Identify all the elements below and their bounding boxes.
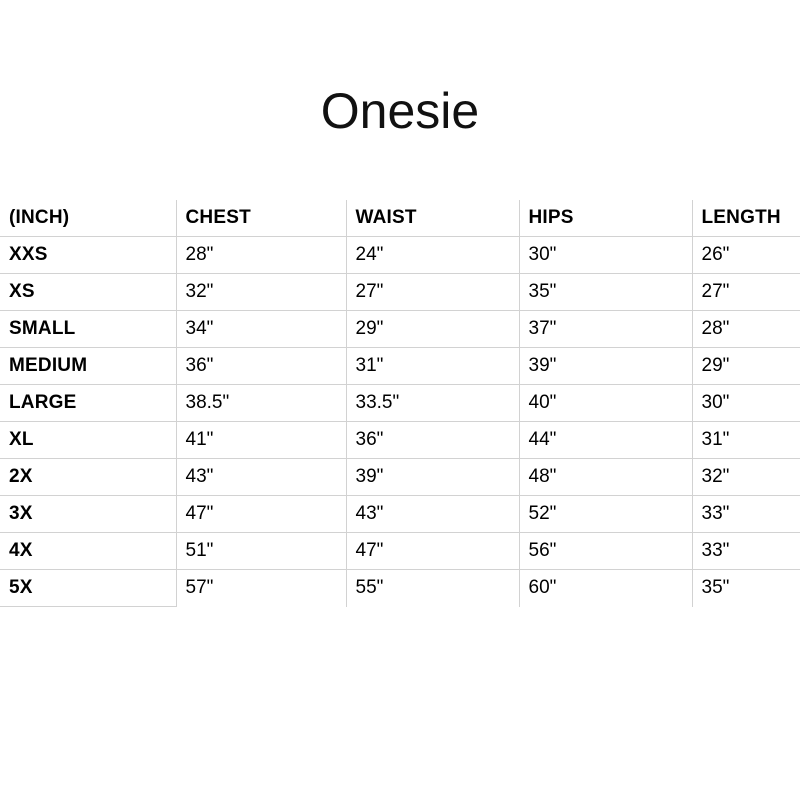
cell-waist: 29" [346,311,519,348]
table-row: SMALL 34" 29" 37" 28" [0,311,800,348]
cell-waist: 43" [346,496,519,533]
table-row: XS 32" 27" 35" 27" [0,274,800,311]
cell-waist: 31" [346,348,519,385]
cell-hips: 40" [519,385,692,422]
table-row: 4X 51" 47" 56" 33" [0,533,800,570]
cell-waist: 39" [346,459,519,496]
cell-hips: 39" [519,348,692,385]
table-row: MEDIUM 36" 31" 39" 29" [0,348,800,385]
row-label-size: XXS [0,237,176,274]
cell-length: 27" [692,274,800,311]
column-header-hips: HIPS [519,200,692,237]
cell-hips: 52" [519,496,692,533]
table-row: XXS 28" 24" 30" 26" [0,237,800,274]
cell-hips: 30" [519,237,692,274]
size-chart-table: (INCH) CHEST WAIST HIPS LENGTH XXS 28" 2… [0,200,800,607]
cell-waist: 55" [346,570,519,607]
table-header-row: (INCH) CHEST WAIST HIPS LENGTH [0,200,800,237]
cell-hips: 48" [519,459,692,496]
row-label-size: 2X [0,459,176,496]
table-body: XXS 28" 24" 30" 26" XS 32" 27" 35" 27" S… [0,237,800,607]
cell-chest: 36" [176,348,346,385]
cell-waist: 24" [346,237,519,274]
cell-hips: 60" [519,570,692,607]
cell-chest: 57" [176,570,346,607]
cell-length: 28" [692,311,800,348]
table-row: 5X 57" 55" 60" 35" [0,570,800,607]
cell-hips: 56" [519,533,692,570]
cell-chest: 28" [176,237,346,274]
cell-chest: 41" [176,422,346,459]
cell-chest: 43" [176,459,346,496]
row-label-size: MEDIUM [0,348,176,385]
row-label-size: LARGE [0,385,176,422]
size-chart-table-container: (INCH) CHEST WAIST HIPS LENGTH XXS 28" 2… [0,200,800,607]
cell-hips: 35" [519,274,692,311]
column-header-waist: WAIST [346,200,519,237]
column-header-unit: (INCH) [0,200,176,237]
cell-hips: 44" [519,422,692,459]
cell-chest: 47" [176,496,346,533]
table-row: 3X 47" 43" 52" 33" [0,496,800,533]
table-row: XL 41" 36" 44" 31" [0,422,800,459]
cell-length: 35" [692,570,800,607]
cell-waist: 27" [346,274,519,311]
table-row: LARGE 38.5" 33.5" 40" 30" [0,385,800,422]
cell-length: 31" [692,422,800,459]
cell-length: 33" [692,533,800,570]
cell-chest: 38.5" [176,385,346,422]
row-label-size: 4X [0,533,176,570]
cell-chest: 34" [176,311,346,348]
row-label-size: XS [0,274,176,311]
cell-waist: 36" [346,422,519,459]
cell-chest: 32" [176,274,346,311]
size-chart-page: Onesie (INCH) CHEST WAIST HIPS LENGTH XX… [0,0,800,800]
table-header: (INCH) CHEST WAIST HIPS LENGTH [0,200,800,237]
cell-chest: 51" [176,533,346,570]
column-header-chest: CHEST [176,200,346,237]
cell-waist: 47" [346,533,519,570]
row-label-size: 5X [0,570,176,607]
row-label-size: SMALL [0,311,176,348]
column-header-length: LENGTH [692,200,800,237]
cell-length: 32" [692,459,800,496]
table-row: 2X 43" 39" 48" 32" [0,459,800,496]
cell-length: 29" [692,348,800,385]
cell-length: 33" [692,496,800,533]
cell-length: 30" [692,385,800,422]
cell-hips: 37" [519,311,692,348]
page-title: Onesie [0,83,800,139]
cell-waist: 33.5" [346,385,519,422]
row-label-size: XL [0,422,176,459]
row-label-size: 3X [0,496,176,533]
cell-length: 26" [692,237,800,274]
